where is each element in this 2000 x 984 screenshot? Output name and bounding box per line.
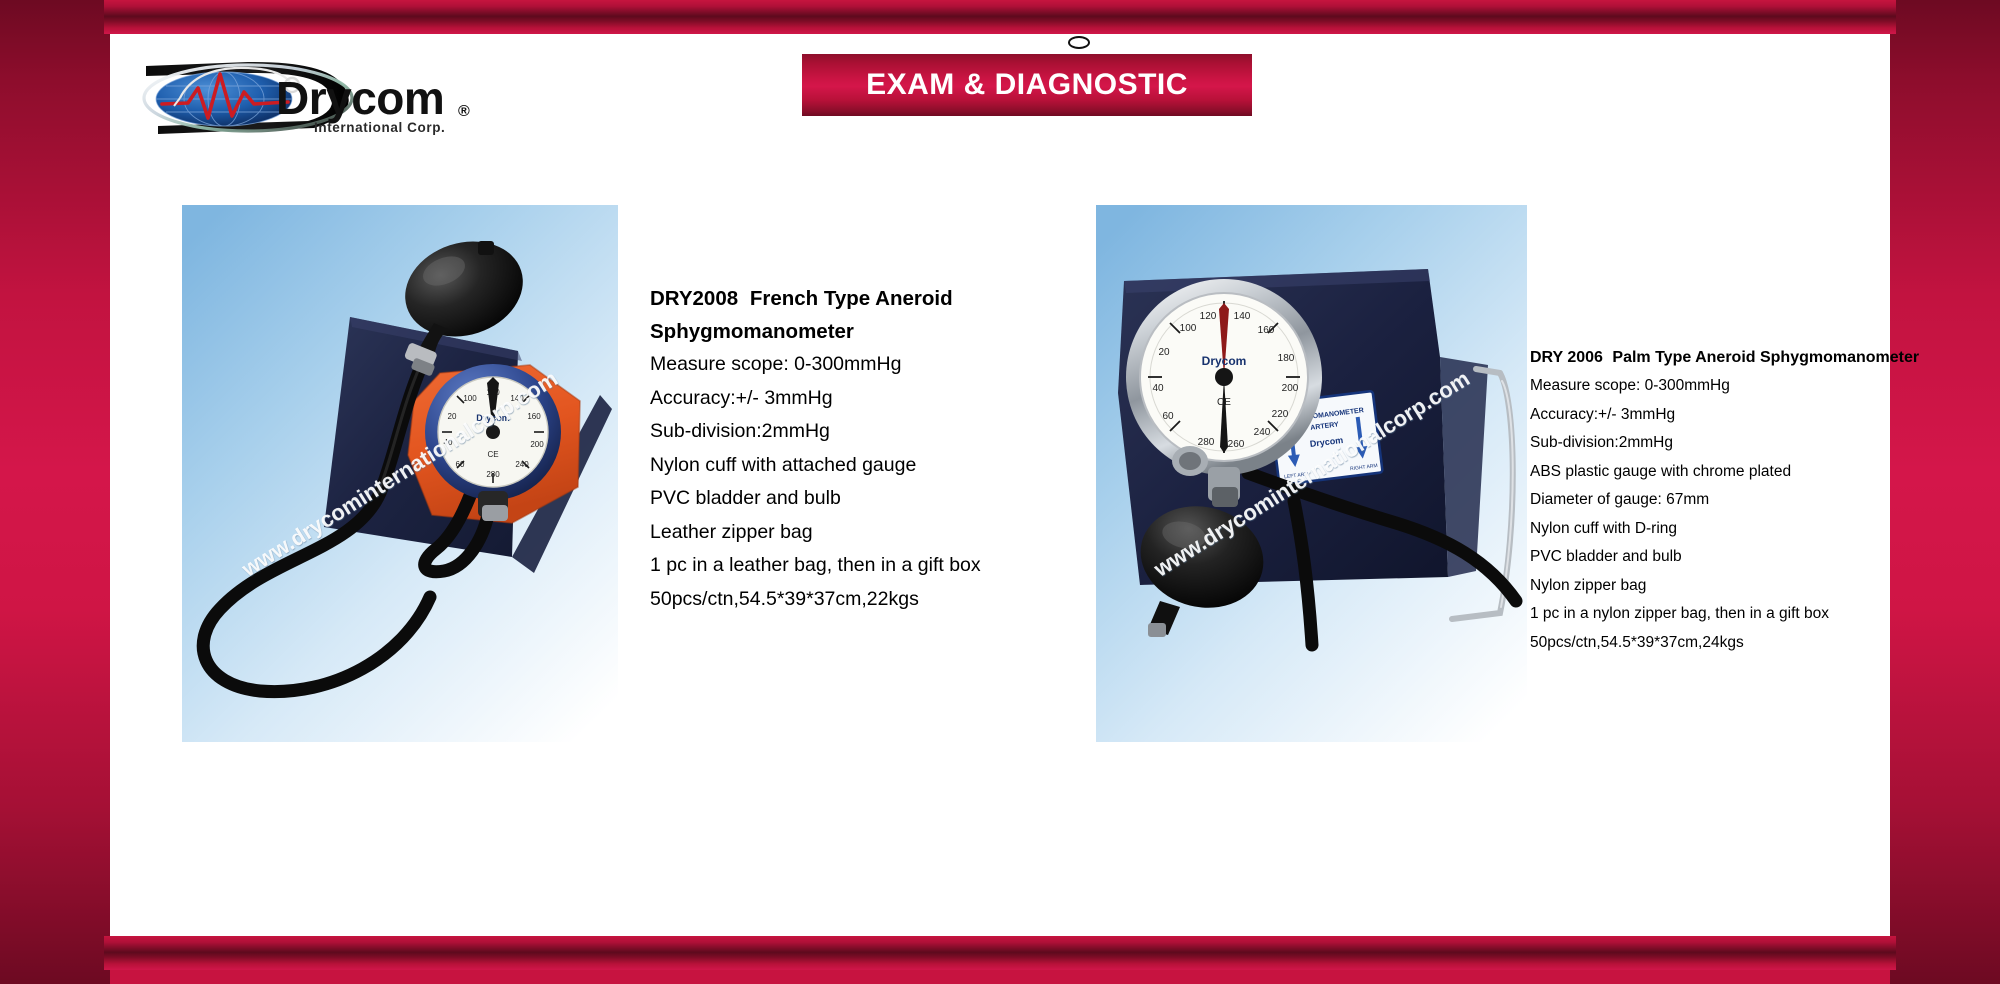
svg-text:180: 180 [1278,353,1295,364]
product-title-line1: DRY 2006 Palm Type Aneroid Sphygmomanome… [1530,344,2000,372]
svg-text:140: 140 [1234,311,1251,322]
svg-text:100: 100 [463,394,477,403]
svg-text:160: 160 [527,412,541,421]
svg-text:100: 100 [1180,323,1197,334]
slide-canvas: Drycom ® International Corp. EXAM & DIAG… [110,34,1890,936]
svg-text:60: 60 [1162,411,1174,422]
frame-bar-bottom [104,936,1896,970]
logo-tagline: International Corp. [314,120,445,135]
spec-item: Sub-division:2mmHg [1530,429,2000,458]
top-oval-marker [1068,36,1090,49]
svg-text:160: 160 [1258,325,1275,336]
svg-text:40: 40 [1152,383,1164,394]
slide-root: Drycom ® International Corp. EXAM & DIAG… [0,0,2000,984]
spec-item: Accuracy:+/- 3mmHg [1530,401,2000,430]
section-title-text: EXAM & DIAGNOSTIC [866,68,1188,102]
svg-text:280: 280 [1198,437,1215,448]
product-photo-dry2006: SPHYGMOMANOMETER ARTERY Drycom LEFT ARM … [1096,205,1527,742]
logo-wordmark: Drycom [276,72,444,124]
svg-text:40: 40 [444,438,453,447]
svg-text:CE: CE [1217,397,1231,408]
spec-item: 50pcs/ctn,54.5*39*37cm,24kgs [1530,629,2000,658]
product-code: DRY 2006 [1530,349,1603,366]
spec-item: 1 pc in a nylon zipper bag, then in a gi… [1530,600,2000,629]
logo-artwork: Drycom ® International Corp. [128,52,548,142]
svg-text:Drycom: Drycom [1202,354,1247,368]
spec-item: Nylon zipper bag [1530,572,2000,601]
frame-side-left [0,0,110,984]
spec-item: Measure scope: 0-300mmHg [1530,372,2000,401]
dry2008-illustration: 100120 140160 200240 28060 4020 Drycom C… [182,205,618,742]
air-release-valve [1172,446,1208,476]
company-logo: Drycom ® International Corp. [128,52,548,142]
svg-text:240: 240 [1254,427,1271,438]
spec-item: PVC bladder and bulb [1530,543,2000,572]
spec-item: Diameter of gauge: 67mm [1530,486,2000,515]
frame-cap-bottom [0,970,2000,984]
spec-item: Nylon cuff with D-ring [1530,515,2000,544]
product-specs-dry2006: DRY 2006 Palm Type Aneroid Sphygmomanome… [1530,344,2000,657]
svg-text:240: 240 [515,460,529,469]
product-code: DRY2008 [650,287,738,310]
spec-item: ABS plastic gauge with chrome plated [1530,458,2000,487]
section-title-banner: EXAM & DIAGNOSTIC [802,54,1252,116]
logo-globe-icon [156,72,292,126]
dry2006-illustration: SPHYGMOMANOMETER ARTERY Drycom LEFT ARM … [1096,205,1527,742]
product-photo-dry2008: 100120 140160 200240 28060 4020 Drycom C… [182,205,618,742]
svg-text:CE: CE [487,450,498,459]
logo-registered-icon: ® [458,103,470,120]
svg-text:280: 280 [486,470,500,479]
svg-text:200: 200 [1282,383,1299,394]
svg-text:20: 20 [448,412,457,421]
svg-text:60: 60 [456,460,465,469]
svg-text:260: 260 [1228,439,1245,450]
svg-text:200: 200 [530,440,544,449]
svg-text:120: 120 [1200,311,1217,322]
frame-bar-top [104,0,1896,34]
product-name: French Type Aneroid [750,287,953,310]
svg-text:20: 20 [1158,347,1170,358]
svg-text:220: 220 [1272,409,1289,420]
svg-text:Drycom: Drycom [476,413,510,423]
svg-text:140: 140 [510,394,524,403]
product-name: Palm Type Aneroid Sphygmomanometer [1612,349,1919,366]
